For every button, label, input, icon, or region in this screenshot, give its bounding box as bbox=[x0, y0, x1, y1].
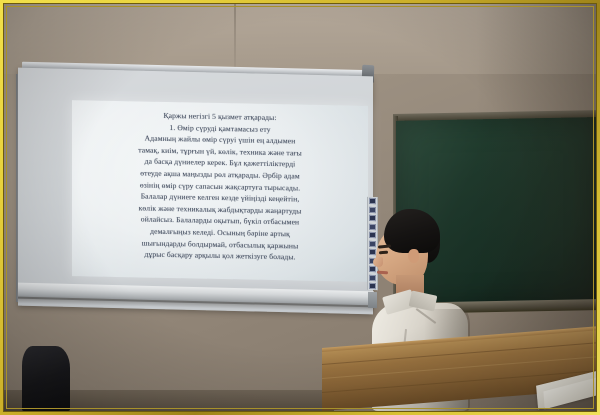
person-nose bbox=[373, 257, 383, 267]
projected-slide: Қаржы негізгі 5 қызмет атқарады: 1. Өмір… bbox=[72, 100, 368, 282]
strip-square bbox=[369, 198, 376, 204]
person-mouth bbox=[377, 271, 388, 275]
person-ear bbox=[408, 249, 419, 263]
dark-chair bbox=[22, 346, 70, 411]
person-eye bbox=[379, 251, 388, 255]
slide-text-block: Қаржы негізгі 5 қызмет атқарады: 1. Өмір… bbox=[72, 100, 368, 264]
person-hair bbox=[384, 209, 440, 253]
classroom-photo: Қаржы негізгі 5 қызмет атқарады: 1. Өмір… bbox=[4, 4, 596, 411]
photo-frame: Қаржы негізгі 5 қызмет атқарады: 1. Өмір… bbox=[0, 0, 600, 415]
